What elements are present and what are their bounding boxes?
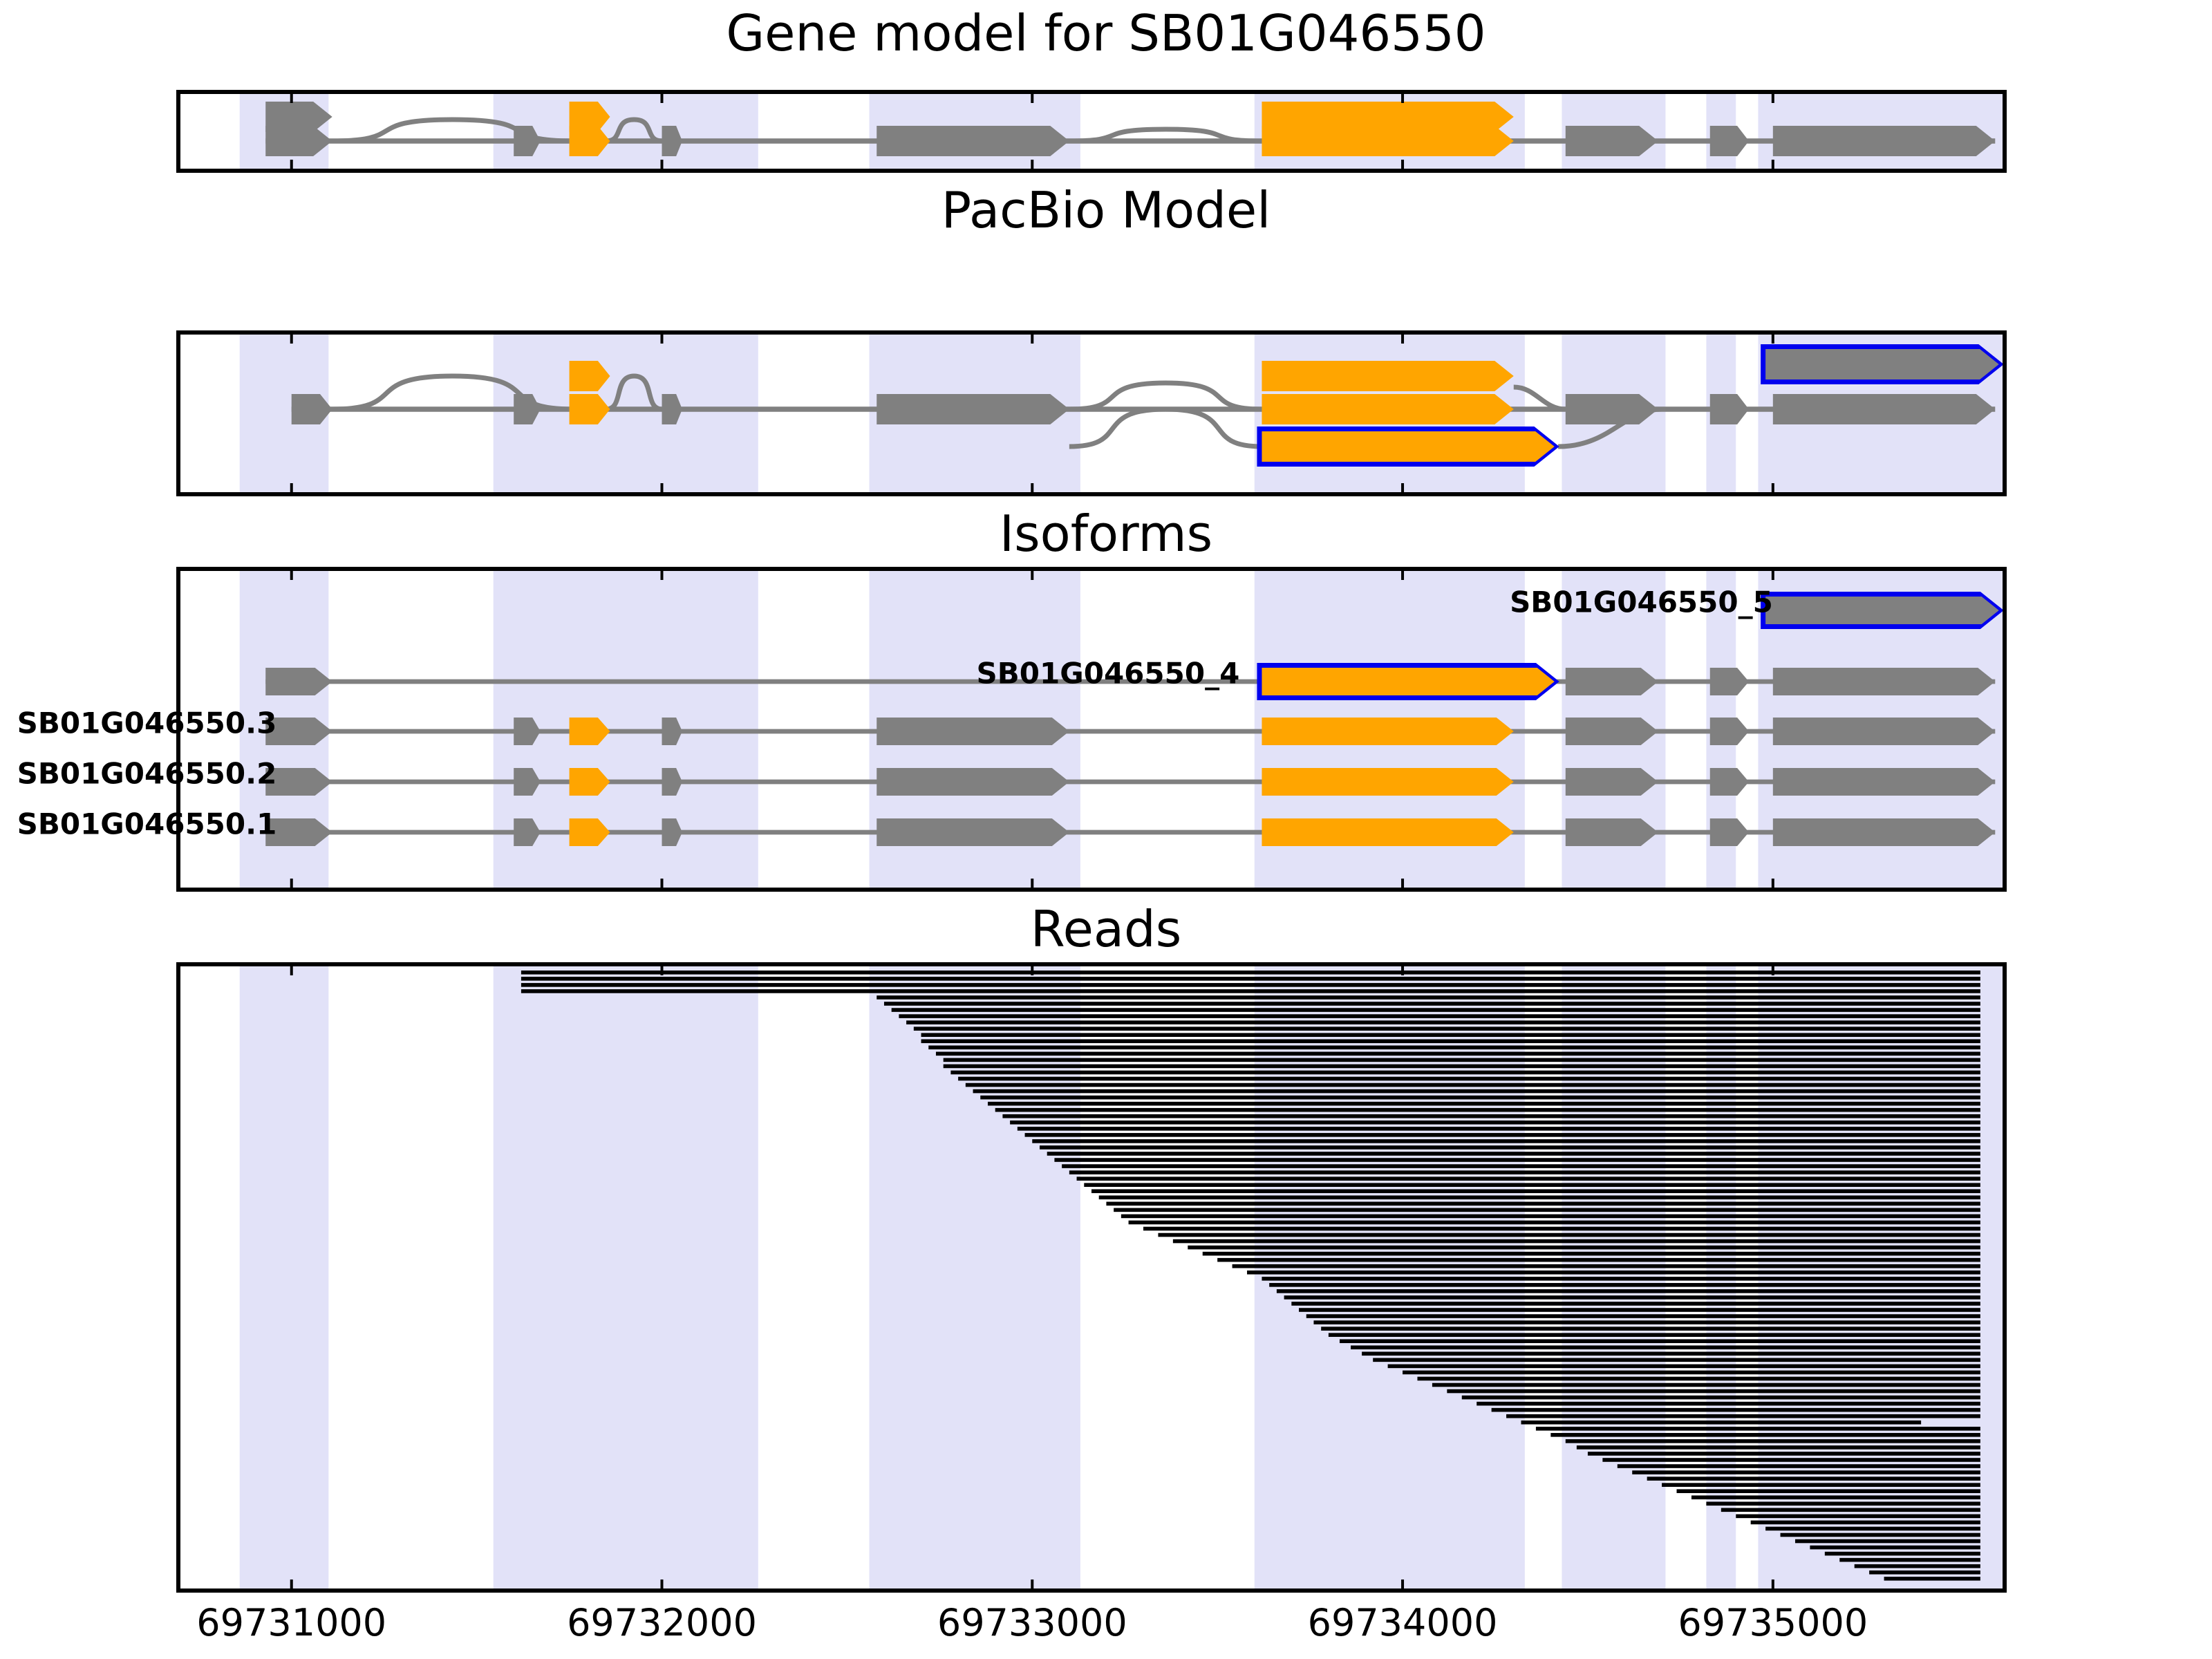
read-bar <box>1765 1527 1980 1531</box>
read-bar <box>884 1002 1980 1006</box>
read-bar <box>1321 1327 1980 1331</box>
read-bar <box>973 1089 1980 1094</box>
read-bar <box>980 1096 1980 1100</box>
read-bar <box>1869 1571 1980 1575</box>
exon-utr <box>1710 668 1749 695</box>
read-bar <box>1129 1221 1980 1225</box>
read-bar <box>1340 1339 1980 1343</box>
read-bar <box>944 1065 1980 1069</box>
exon-cds <box>1262 718 1513 745</box>
read-bar <box>1114 1208 1980 1212</box>
exon-cds <box>1262 102 1513 132</box>
read-bar <box>1158 1233 1980 1237</box>
read-bar <box>1417 1377 1980 1381</box>
read-bar <box>958 1077 1980 1081</box>
pacbio-track <box>180 335 2003 492</box>
pacbio-row-top <box>1761 344 2003 384</box>
read-bar <box>1077 1177 1980 1181</box>
read-bar <box>1025 1133 1980 1137</box>
exon-utr <box>1566 126 1658 156</box>
read-bar <box>1269 1283 1980 1287</box>
read-bar <box>1047 1152 1980 1156</box>
pacbio-row-bottom <box>1257 427 1559 467</box>
exon-utr <box>1773 818 1995 846</box>
exon-utr <box>1773 768 1995 796</box>
exon-utr <box>877 768 1069 796</box>
isoform-label-SB01G046550.3: SB01G046550.3 <box>17 706 277 740</box>
panel-pacbio <box>176 330 2007 496</box>
read-bar <box>892 1008 1980 1012</box>
isoform-SB01G046550.2 <box>265 768 1995 796</box>
read-bar <box>928 1045 1980 1049</box>
read-bar <box>1262 1277 1980 1281</box>
exon-utr <box>877 718 1069 745</box>
read-bar <box>1647 1477 1980 1481</box>
x-tick-label: 69735000 <box>1678 1601 1868 1644</box>
panel-title-isoforms: Isoforms <box>0 505 2212 563</box>
read-bar <box>1299 1308 1980 1312</box>
read-bar <box>1662 1483 1980 1487</box>
read-bar <box>995 1108 1980 1112</box>
read-bar <box>1810 1546 1980 1550</box>
read-bar <box>521 977 1980 981</box>
read-bar <box>1084 1183 1980 1187</box>
read-bar <box>1232 1264 1980 1268</box>
exon-cds <box>1262 668 1554 695</box>
gene-model-track <box>180 94 2003 169</box>
exon-utr <box>1710 718 1749 745</box>
exon-cds <box>1262 818 1513 846</box>
read-bar <box>1706 1501 1980 1506</box>
read-bar <box>1247 1271 1980 1275</box>
read-bar <box>1492 1408 1980 1412</box>
read-bar <box>1173 1239 1980 1244</box>
read-bar <box>1018 1127 1980 1131</box>
read-bar <box>1506 1414 1980 1418</box>
read-bar <box>1521 1421 1921 1425</box>
read-bar <box>1677 1489 1980 1493</box>
x-tick-label: 69733000 <box>937 1601 1127 1644</box>
panel-title-reads: Reads <box>0 900 2212 958</box>
read-bar <box>1032 1139 1980 1143</box>
isoform-label-SB01G046550.1: SB01G046550.1 <box>17 807 277 841</box>
read-bar <box>1447 1389 1980 1394</box>
exon-utr <box>1710 768 1749 796</box>
read-bar <box>1091 1189 1980 1193</box>
read-bar <box>1432 1383 1980 1387</box>
exon-utr <box>1773 126 1995 156</box>
exon-utr <box>1710 394 1749 424</box>
read-bar <box>1403 1371 1980 1375</box>
shaded-region <box>510 966 547 1588</box>
panel-title-pacbio: PacBio Model <box>0 181 2212 239</box>
read-bar <box>1351 1345 1980 1349</box>
isoform-label-SB01G046550.2: SB01G046550.2 <box>17 757 277 791</box>
splice-arc <box>1069 409 1262 447</box>
shaded-region <box>655 966 684 1588</box>
read-bar <box>1855 1564 1980 1568</box>
read-bar <box>1010 1121 1980 1125</box>
exon-utr <box>1773 394 1995 424</box>
read-bar <box>914 1027 1980 1031</box>
read-bar <box>1751 1521 1980 1525</box>
panel-reads <box>176 962 2007 1593</box>
exon-utr <box>877 394 1069 424</box>
shaded-region <box>565 966 625 1588</box>
read-bar <box>1588 1452 1980 1456</box>
x-tick-label: 69731000 <box>196 1601 386 1644</box>
read-bar <box>936 1052 1980 1056</box>
splice-arc <box>1069 383 1262 409</box>
isoform-SB01G046550_5 <box>1761 592 2003 629</box>
exon-utr <box>1773 718 1995 745</box>
read-bar <box>1462 1396 1980 1400</box>
exon-utr <box>1765 597 1999 624</box>
read-bar <box>1069 1170 1980 1174</box>
read-bar <box>1217 1258 1980 1262</box>
exon-utr <box>1710 818 1749 846</box>
exon-utr <box>1566 718 1658 745</box>
exon-cds <box>1262 431 1554 462</box>
read-bar <box>1106 1202 1980 1206</box>
exon-utr <box>1566 818 1658 846</box>
exon-utr <box>1566 768 1658 796</box>
read-bar <box>899 1014 1980 1018</box>
read-bar <box>1188 1246 1980 1250</box>
isoform-SB01G046550.1 <box>265 818 1995 846</box>
read-bar <box>521 971 1980 975</box>
isoform-label-SB01G046550_5: SB01G046550_5 <box>1510 585 1773 619</box>
read-bar <box>1691 1495 1980 1499</box>
reads-track <box>180 966 2003 1588</box>
read-bar <box>1291 1302 1980 1306</box>
read-bar <box>1781 1533 1980 1537</box>
read-bar <box>1884 1577 1980 1581</box>
read-bar <box>944 1058 1980 1062</box>
read-bar <box>1284 1295 1980 1300</box>
read-bar <box>1306 1314 1980 1318</box>
exon-utr <box>1710 126 1749 156</box>
exon-cds <box>1262 768 1513 796</box>
read-bar <box>966 1083 1980 1087</box>
isoform-label-SB01G046550_4: SB01G046550_4 <box>977 657 1240 691</box>
read-bar <box>1362 1351 1980 1356</box>
read-bar <box>1143 1227 1980 1231</box>
pacbio-row-upper-cds-large <box>1262 361 1513 391</box>
read-bar <box>1277 1289 1980 1293</box>
read-bar <box>1736 1515 1980 1519</box>
read-bar <box>1054 1158 1980 1162</box>
read-bar <box>521 983 1980 987</box>
exon-utr <box>1566 394 1658 424</box>
shaded-region <box>240 966 329 1588</box>
panel-title-gene-model: Gene model for SB01G046550 <box>0 4 2212 62</box>
isoform-SB01G046550.3 <box>265 718 1995 745</box>
exon-utr <box>877 126 1069 156</box>
read-bar <box>1795 1539 1980 1544</box>
exon-utr <box>877 818 1069 846</box>
exon-utr <box>1566 668 1658 695</box>
panel-gene-model <box>176 90 2007 173</box>
read-bar <box>1477 1402 1980 1406</box>
read-bar <box>921 1033 1980 1037</box>
read-bar <box>521 989 1980 993</box>
read-bar <box>877 995 1980 1000</box>
read-bar <box>1550 1433 1980 1437</box>
exon-cds <box>1262 361 1513 391</box>
read-bar <box>1577 1445 1980 1450</box>
exon-utr <box>1765 349 1999 379</box>
read-bar <box>1536 1427 1980 1431</box>
read-bar <box>1721 1508 1980 1512</box>
x-tick-label: 69734000 <box>1308 1601 1498 1644</box>
read-bar <box>1618 1464 1980 1468</box>
read-bar <box>1062 1164 1980 1168</box>
read-bar <box>1121 1215 1980 1219</box>
x-tick-label: 69732000 <box>567 1601 757 1644</box>
read-bar <box>1373 1358 1980 1362</box>
read-bar <box>1566 1439 1980 1443</box>
read-bar <box>1203 1252 1980 1256</box>
exon-utr <box>1773 668 1995 695</box>
read-bar <box>1002 1114 1980 1118</box>
read-bar <box>950 1071 1980 1075</box>
read-bar <box>1602 1458 1980 1462</box>
read-bar <box>1040 1145 1980 1150</box>
read-bar <box>1839 1558 1980 1562</box>
read-bar <box>1632 1470 1980 1474</box>
read-bar <box>1388 1365 1980 1369</box>
exon-cds <box>1262 394 1513 424</box>
read-bar <box>1099 1195 1980 1199</box>
read-bar <box>988 1102 1980 1106</box>
gene-model-upper-cds-large <box>1262 102 1513 132</box>
read-bar <box>921 1039 1980 1043</box>
read-bar <box>1825 1552 1980 1556</box>
read-bar <box>1313 1320 1980 1324</box>
read-bar <box>1329 1333 1980 1337</box>
read-bar <box>906 1020 1980 1024</box>
